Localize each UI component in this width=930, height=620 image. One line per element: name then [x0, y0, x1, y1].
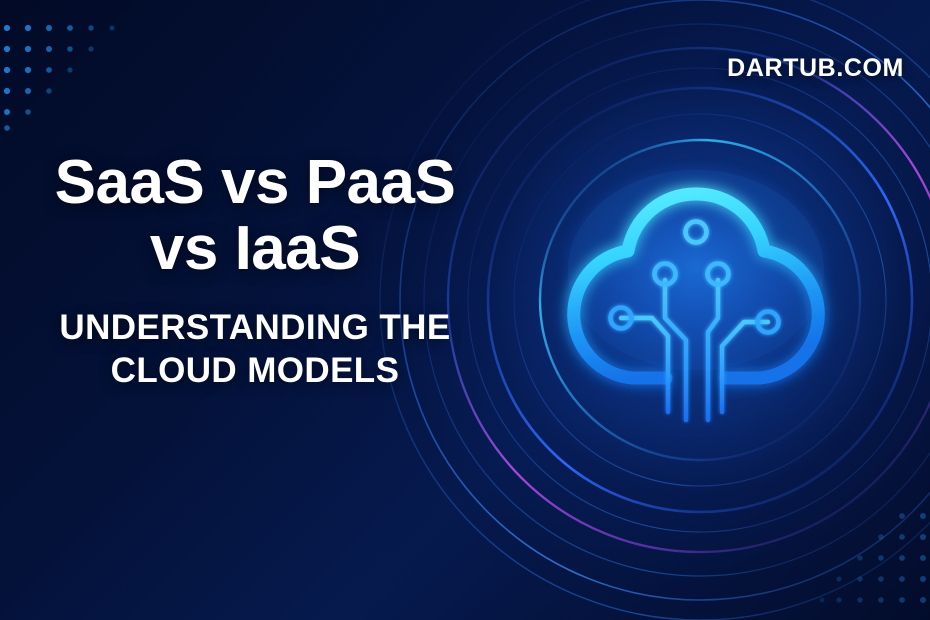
- banner-canvas: SaaS vs PaaS vs IaaS UNDERSTANDING THE C…: [0, 0, 930, 620]
- brand-watermark: DARTUB.COM: [727, 54, 904, 83]
- page-subtitle: UNDERSTANDING THE CLOUD MODELS: [0, 307, 510, 392]
- title-block: SaaS vs PaaS vs IaaS UNDERSTANDING THE C…: [0, 150, 510, 393]
- dot-grid-top-left-decoration: [0, 22, 120, 132]
- subhead-line-1: UNDERSTANDING THE: [0, 307, 510, 350]
- dot-grid-bottom-right-decoration: [820, 510, 930, 610]
- headline-line-2: vs IaaS: [0, 216, 510, 282]
- subhead-line-2: CLOUD MODELS: [0, 350, 510, 393]
- cloud-circuit-icon: [536, 150, 856, 420]
- page-title: SaaS vs PaaS vs IaaS: [0, 150, 510, 281]
- headline-line-1: SaaS vs PaaS: [55, 148, 456, 217]
